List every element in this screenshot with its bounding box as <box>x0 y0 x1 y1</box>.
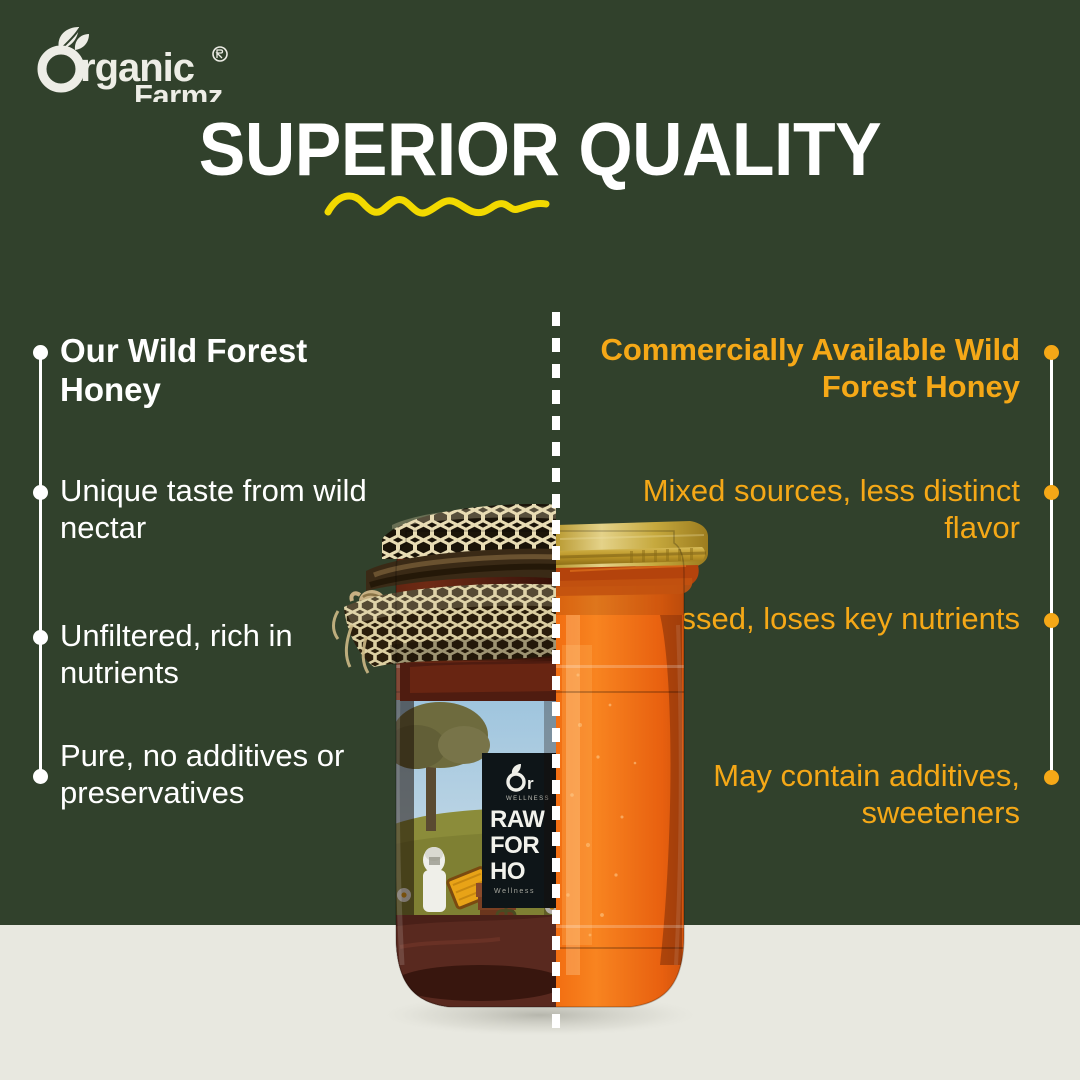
registered-mark-icon <box>213 47 227 61</box>
brand-logo[interactable]: rganic Farmz <box>28 22 248 100</box>
right-connector-rail <box>1050 352 1053 779</box>
infographic-canvas: rganic Farmz SUPERIOR QUALITY Our Wild F… <box>0 0 1080 1080</box>
right-bullet-dot-1 <box>1044 485 1059 500</box>
right-column-heading: Commercially Available Wild Forest Honey <box>560 332 1020 405</box>
left-bullet-dot-1 <box>33 485 48 500</box>
left-bullet-dot-2 <box>33 630 48 645</box>
svg-text:r: r <box>527 774 534 793</box>
svg-text:WELLNESS: WELLNESS <box>506 796 550 802</box>
left-column-heading-block: Our Wild Forest Honey <box>60 332 390 410</box>
right-bullet-dot-heading <box>1044 345 1059 360</box>
beekeeper-illustration <box>423 847 446 912</box>
right-bullet-dot-3 <box>1044 770 1059 785</box>
product-image-split-honey-jar: r WELLNESS RAW FOR HO Wellness <box>330 495 750 1035</box>
svg-text:FOR: FOR <box>490 832 539 859</box>
svg-text:Farmz: Farmz <box>134 78 223 102</box>
left-bullet-dot-3 <box>33 769 48 784</box>
right-bullet-dot-2 <box>1044 613 1059 628</box>
jute-mesh-cap <box>334 504 561 701</box>
svg-text:HO: HO <box>490 858 525 885</box>
gold-screw-lid <box>556 521 708 596</box>
page-title: SUPERIOR QUALITY <box>38 112 1042 187</box>
comparison-divider <box>552 312 560 1034</box>
left-bullet-dot-heading <box>33 345 48 360</box>
yellow-squiggle-underline <box>322 182 552 224</box>
product-label: r WELLNESS RAW FOR HO Wellness <box>386 700 562 936</box>
left-connector-rail <box>39 352 42 777</box>
left-column-heading: Our Wild Forest Honey <box>60 332 390 410</box>
svg-text:RAW: RAW <box>490 806 545 833</box>
right-column-heading-block: Commercially Available Wild Forest Honey <box>560 332 1020 405</box>
svg-text:Wellness: Wellness <box>494 888 535 895</box>
